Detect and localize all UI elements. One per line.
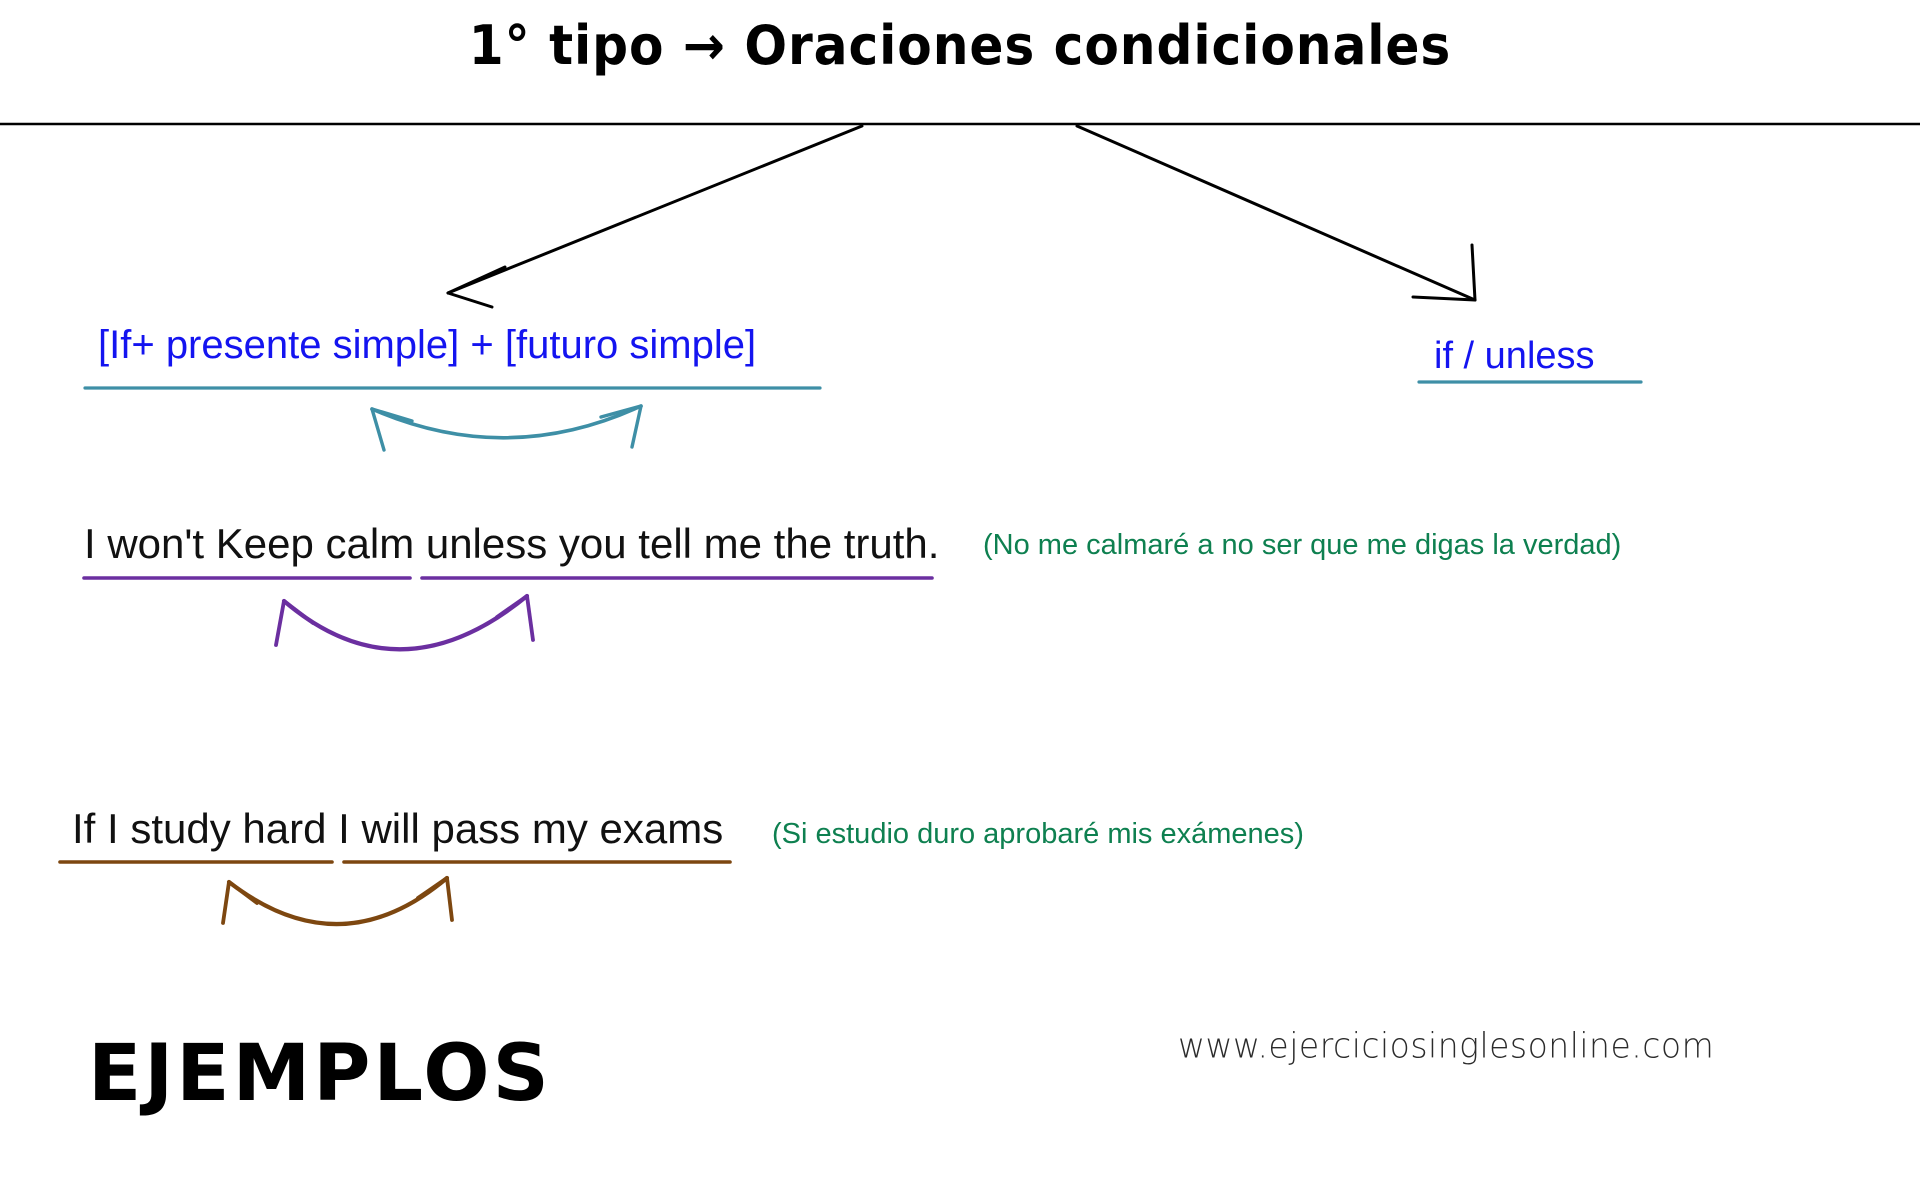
example-1-translation: (No me calmaré a no ser que me digas la …	[983, 531, 1621, 560]
example-2-sentence: If I study hard I will pass my exams	[72, 808, 723, 850]
example-1-link-arrow	[276, 596, 533, 649]
page-title: 1° tipo → Oraciones condicionales	[67, 14, 1853, 77]
site-url: www.ejerciciosinglesonline.com	[1178, 1028, 1714, 1063]
formula-link-arrow	[372, 406, 641, 450]
annotation-strokes-layer	[0, 0, 1920, 1200]
arrow-to-formula	[448, 126, 862, 307]
example-2-link-arrow	[223, 878, 452, 924]
example-2-translation: (Si estudio duro aprobaré mis exámenes)	[772, 820, 1304, 849]
conditional-keywords: if / unless	[1434, 337, 1595, 375]
examples-heading: EJEMPLOS	[88, 1035, 552, 1113]
worksheet-page: 1° tipo → Oraciones condicionales	[0, 0, 1920, 1200]
example-1-sentence: I won't Keep calm unless you tell me the…	[84, 523, 939, 565]
arrow-to-keywords	[1077, 126, 1475, 300]
conditional-formula: [If+ presente simple] + [futuro simple]	[98, 325, 756, 365]
